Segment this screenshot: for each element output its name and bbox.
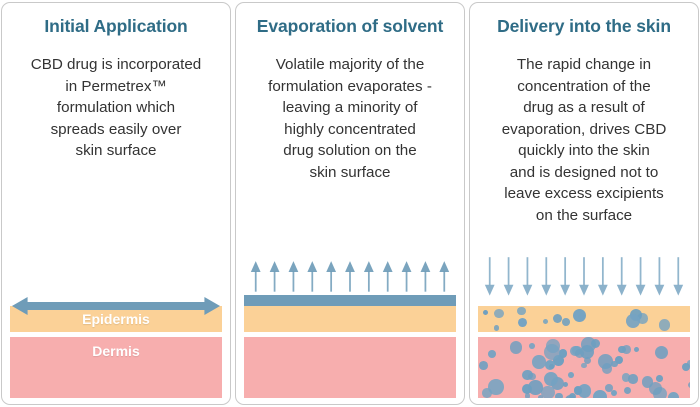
- drug-particle: [488, 350, 496, 358]
- drug-particle: [494, 325, 500, 331]
- panel-body: The rapid change in concentration of the…: [483, 54, 685, 226]
- drug-particle: [479, 361, 488, 370]
- drug-particle: [549, 364, 554, 369]
- drug-particle: [553, 314, 562, 323]
- drug-particle: [510, 341, 523, 354]
- drug-particle: [688, 382, 690, 389]
- dermis-layer: [478, 337, 690, 398]
- skin-cross-section: [244, 295, 456, 398]
- spread-double-arrow-icon: [10, 295, 222, 317]
- drug-particle: [543, 319, 548, 324]
- drug-particle: [518, 318, 527, 327]
- drug-particle: [593, 390, 607, 398]
- epidermis-layer: [244, 306, 456, 332]
- panel-initial-application: Initial Application CBD drug is incorpor…: [1, 2, 231, 405]
- panel-body: CBD drug is incorporated in Permetrex™ f…: [15, 54, 217, 162]
- dermis-label: Dermis: [10, 343, 222, 359]
- drug-particles-dermis: [478, 337, 690, 398]
- drug-particle: [634, 347, 640, 353]
- drug-particle: [494, 309, 504, 319]
- drug-particle: [483, 310, 489, 316]
- drug-particle: [618, 346, 625, 353]
- drug-particle: [656, 375, 663, 382]
- drug-particle: [555, 393, 563, 399]
- drug-particle: [528, 373, 536, 381]
- drug-particle: [563, 382, 569, 388]
- drug-particle: [562, 318, 570, 326]
- drug-particle: [626, 314, 640, 328]
- drug-particle: [538, 395, 544, 398]
- panel-body: Volatile majority of the formulation eva…: [249, 54, 451, 183]
- panel-title: Initial Application: [2, 16, 230, 36]
- drug-particle: [541, 386, 554, 398]
- drug-particle: [573, 309, 586, 322]
- drug-film-layer: [244, 295, 456, 306]
- drug-particle: [488, 379, 504, 395]
- drug-particle: [532, 355, 545, 368]
- panel-evaporation-of-solvent: Evaporation of solvent Volatile majority…: [235, 2, 465, 405]
- drug-particle: [581, 363, 587, 369]
- panel-title: Delivery into the skin: [470, 16, 698, 36]
- drug-particle: [682, 363, 690, 372]
- drug-particles-epidermis: [478, 306, 690, 332]
- drug-particle: [649, 382, 662, 395]
- drug-particle: [655, 346, 668, 359]
- drug-particle: [668, 392, 679, 398]
- drug-particle: [611, 390, 617, 396]
- panel-title: Evaporation of solvent: [236, 16, 464, 36]
- drug-particle: [611, 361, 617, 367]
- process-diagram: Initial Application CBD drug is incorpor…: [0, 0, 700, 407]
- drug-particle: [517, 307, 526, 316]
- drug-particle: [581, 337, 596, 352]
- drug-particle: [624, 387, 631, 394]
- panel-delivery-into-the-skin: Delivery into the skin The rapid change …: [469, 2, 699, 405]
- drug-particle: [544, 372, 558, 386]
- dermis-layer: [244, 337, 456, 398]
- skin-cross-section: [478, 295, 690, 398]
- epidermis-layer: [478, 306, 690, 332]
- drug-particle: [568, 372, 574, 378]
- drug-particle: [628, 374, 637, 383]
- drug-particle: [659, 319, 670, 330]
- drug-particle: [529, 343, 535, 349]
